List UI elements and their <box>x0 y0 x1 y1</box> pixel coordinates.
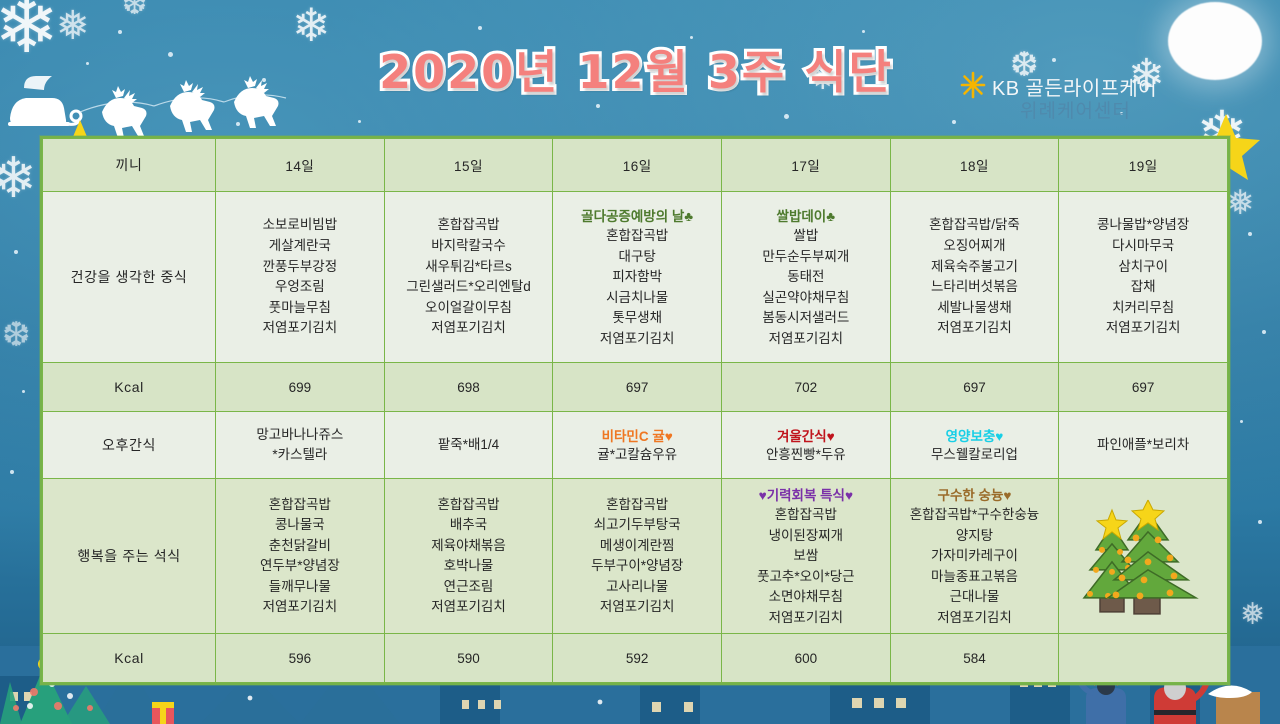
snowflake-icon: ❄ <box>0 0 59 64</box>
dinner-items-4: 혼합잡곡밥*구수한숭늉 양지탕 가자미카레구이 마늘종표고볶음 근대나물 저염포… <box>910 507 1039 625</box>
dinner-cell-5 <box>1059 479 1228 634</box>
lunch-cell-0: 소보로비빔밥 게살계란국 깐풍두부강정 우엉조림 풋마늘무침 저염포기김치 <box>216 191 385 362</box>
dinner-items-0: 혼합잡곡밥 콩나물국 춘천닭갈비 연두부*양념장 들깨무나물 저염포기김치 <box>260 497 340 615</box>
lunch-cell-3: 쌀밥데이♣쌀밥 만두순두부찌개 동태전 실곤약야채무침 봄동시저샐러드 저염포기… <box>722 191 891 362</box>
lunch-kcal-3: 702 <box>722 363 891 412</box>
snow-dot <box>22 390 25 393</box>
snowflake-icon: ❅ <box>1240 600 1265 630</box>
dinner-kcal-1: 590 <box>384 634 553 683</box>
table-header-row: 끼니 14일 15일 16일 17일 18일 19일 <box>43 139 1228 192</box>
snack-items-0: 망고바나나쥬스 *카스텔라 <box>218 425 382 466</box>
snow-dot <box>1248 232 1252 236</box>
kb-logo: KB 골든라이프케어 위례케어센터 <box>958 70 1228 126</box>
page-title: 2020년 12월 3주 식단 <box>336 36 936 102</box>
snow-dot <box>1258 520 1262 524</box>
lunch-items-4: 혼합잡곡밥/닭죽 오징어찌개 제육숙주불고기 느타리버섯볶음 세발나물생채 저염… <box>929 217 1020 335</box>
meal-plan-table-container: 끼니 14일 15일 16일 17일 18일 19일 건강을 생각한 중식 소보… <box>40 136 1230 685</box>
snowflake-icon: ❆ <box>122 0 147 20</box>
snow-dot <box>952 120 956 124</box>
row-label-kcal-lunch: Kcal <box>43 363 216 412</box>
snow-dot <box>478 26 482 30</box>
lunch-kcal-2: 697 <box>553 363 722 412</box>
header-day-3: 17일 <box>722 139 891 192</box>
header-day-1: 15일 <box>384 139 553 192</box>
lunch-items-2: 혼합잡곡밥 대구탕 피자함박 시금치나물 톳무생채 저염포기김치 <box>600 228 675 346</box>
snack-items-1: 팥죽*배1/4 <box>387 435 551 455</box>
lunch-tag-2: 골다공증예방의 날♣ <box>555 205 719 225</box>
snowflake-icon: ❅ <box>1226 186 1255 220</box>
dinner-cell-4: 구수한 숭늉♥혼합잡곡밥*구수한숭늉 양지탕 가자미카레구이 마늘종표고볶음 근… <box>890 479 1059 634</box>
lunch-row: 건강을 생각한 중식 소보로비빔밥 게살계란국 깐풍두부강정 우엉조림 풋마늘무… <box>43 191 1228 362</box>
snow-dot <box>358 120 361 123</box>
moon-decoration <box>1168 2 1262 80</box>
dinner-items-3: 혼합잡곡밥 냉이된장찌개 보쌈 풋고추*오이*당근 소면야채무침 저염포기김치 <box>757 507 854 625</box>
lunch-kcal-1: 698 <box>384 363 553 412</box>
snow-dot <box>596 104 600 108</box>
kb-star-icon <box>958 70 988 100</box>
dinner-tag-4: 구수한 숭늉♥ <box>893 484 1057 504</box>
snowflake-icon: ❄ <box>0 150 37 206</box>
snack-items-4: 무스웰칼로리업 <box>893 445 1057 465</box>
dinner-items-1: 혼합잡곡밥 배추국 제육야채볶음 호박나물 연근조림 저염포기김치 <box>431 497 506 615</box>
dinner-kcal-2: 592 <box>553 634 722 683</box>
snow-dot <box>10 470 14 474</box>
dinner-cell-3: ♥기력회복 특식♥혼합잡곡밥 냉이된장찌개 보쌈 풋고추*오이*당근 소면야채무… <box>722 479 891 634</box>
dinner-kcal-0: 596 <box>216 634 385 683</box>
header-day-5: 19일 <box>1059 139 1228 192</box>
lunch-kcal-row: Kcal 699 698 697 702 697 697 <box>43 363 1228 412</box>
snow-dot <box>1052 58 1056 62</box>
dinner-kcal-5 <box>1059 634 1228 683</box>
dinner-cell-2: 혼합잡곡밥 쇠고기두부탕국 메생이계란찜 두부구이*양념장 고사리나물 저염포기… <box>553 479 722 634</box>
header-day-2: 16일 <box>553 139 722 192</box>
snack-tag-4: 영양보충♥ <box>893 425 1057 445</box>
lunch-items-1: 혼합잡곡밥 바지락칼국수 새우튀김*타르s 그린샐러드*오리엔탈d 오이얼갈이무… <box>406 217 531 335</box>
lunch-items-0: 소보로비빔밥 게살계란국 깐풍두부강정 우엉조림 풋마늘무침 저염포기김치 <box>263 217 338 335</box>
snowflake-icon: ❆ <box>2 318 31 352</box>
snack-tag-2: 비타민C 귤♥ <box>555 425 719 445</box>
snack-items-3: 안흥찐빵*두유 <box>724 445 888 465</box>
lunch-tag-3: 쌀밥데이♣ <box>724 205 888 225</box>
row-label-lunch: 건강을 생각한 중식 <box>43 191 216 362</box>
snowflake-icon: ❄ <box>292 2 331 48</box>
dinner-kcal-4: 584 <box>890 634 1059 683</box>
snack-cell-5: 파인애플*보리차 <box>1059 412 1228 479</box>
lunch-kcal-4: 697 <box>890 363 1059 412</box>
dinner-row: 행복을 주는 석식 혼합잡곡밥 콩나물국 춘천닭갈비 연두부*양념장 들깨무나물… <box>43 479 1228 634</box>
header-day-4: 18일 <box>890 139 1059 192</box>
snack-row: 오후간식 망고바나나쥬스 *카스텔라 팥죽*배1/4 비타민C 귤♥귤*고칼슘우… <box>43 412 1228 479</box>
snow-dot <box>1240 420 1243 423</box>
snow-dot <box>784 114 789 119</box>
dinner-cell-1: 혼합잡곡밥 배추국 제육야채볶음 호박나물 연근조림 저염포기김치 <box>384 479 553 634</box>
row-label-snack: 오후간식 <box>43 412 216 479</box>
row-label-kcal-dinner: Kcal <box>43 634 216 683</box>
snack-cell-0: 망고바나나쥬스 *카스텔라 <box>216 412 385 479</box>
meal-plan-table: 끼니 14일 15일 16일 17일 18일 19일 건강을 생각한 중식 소보… <box>42 138 1228 683</box>
christmas-trees-icon <box>1078 500 1208 622</box>
lunch-items-5: 콩나물밥*양념장 다시마무국 삼치구이 잡채 치커리무침 저염포기김치 <box>1097 217 1189 335</box>
lunch-cell-1: 혼합잡곡밥 바지락칼국수 새우튀김*타르s 그린샐러드*오리엔탈d 오이얼갈이무… <box>384 191 553 362</box>
lunch-cell-5: 콩나물밥*양념장 다시마무국 삼치구이 잡채 치커리무침 저염포기김치 <box>1059 191 1228 362</box>
snow-dot <box>168 52 173 57</box>
dinner-cell-0: 혼합잡곡밥 콩나물국 춘천닭갈비 연두부*양념장 들깨무나물 저염포기김치 <box>216 479 385 634</box>
snack-cell-4: 영양보충♥무스웰칼로리업 <box>890 412 1059 479</box>
lunch-cell-4: 혼합잡곡밥/닭죽 오징어찌개 제육숙주불고기 느타리버섯볶음 세발나물생채 저염… <box>890 191 1059 362</box>
snack-cell-3: 겨울간식♥안흥찐빵*두유 <box>722 412 891 479</box>
snow-dot <box>14 250 18 254</box>
lunch-kcal-0: 699 <box>216 363 385 412</box>
snack-cell-2: 비타민C 귤♥귤*고칼슘우유 <box>553 412 722 479</box>
dinner-items-2: 혼합잡곡밥 쇠고기두부탕국 메생이계란찜 두부구이*양념장 고사리나물 저염포기… <box>591 497 683 615</box>
row-label-dinner: 행복을 주는 석식 <box>43 479 216 634</box>
snowflake-icon: ❅ <box>56 6 90 46</box>
dinner-kcal-3: 600 <box>722 634 891 683</box>
lunch-items-3: 쌀밥 만두순두부찌개 동태전 실곤약야채무침 봄동시저샐러드 저염포기김치 <box>762 228 849 346</box>
snack-tag-3: 겨울간식♥ <box>724 425 888 445</box>
snack-cell-1: 팥죽*배1/4 <box>384 412 553 479</box>
snack-items-2: 귤*고칼슘우유 <box>555 445 719 465</box>
logo-center-text: 위례케어센터 <box>1020 96 1131 123</box>
header-corner-label: 끼니 <box>43 139 216 192</box>
lunch-kcal-5: 697 <box>1059 363 1228 412</box>
snack-items-5: 파인애플*보리차 <box>1061 435 1225 455</box>
dinner-tag-3: ♥기력회복 특식♥ <box>724 484 888 504</box>
snow-dot <box>118 30 122 34</box>
lunch-cell-2: 골다공증예방의 날♣혼합잡곡밥 대구탕 피자함박 시금치나물 톳무생채 저염포기… <box>553 191 722 362</box>
header-day-0: 14일 <box>216 139 385 192</box>
dinner-kcal-row: Kcal 596 590 592 600 584 <box>43 634 1228 683</box>
snow-dot <box>862 30 865 33</box>
snow-dot <box>1262 330 1266 334</box>
